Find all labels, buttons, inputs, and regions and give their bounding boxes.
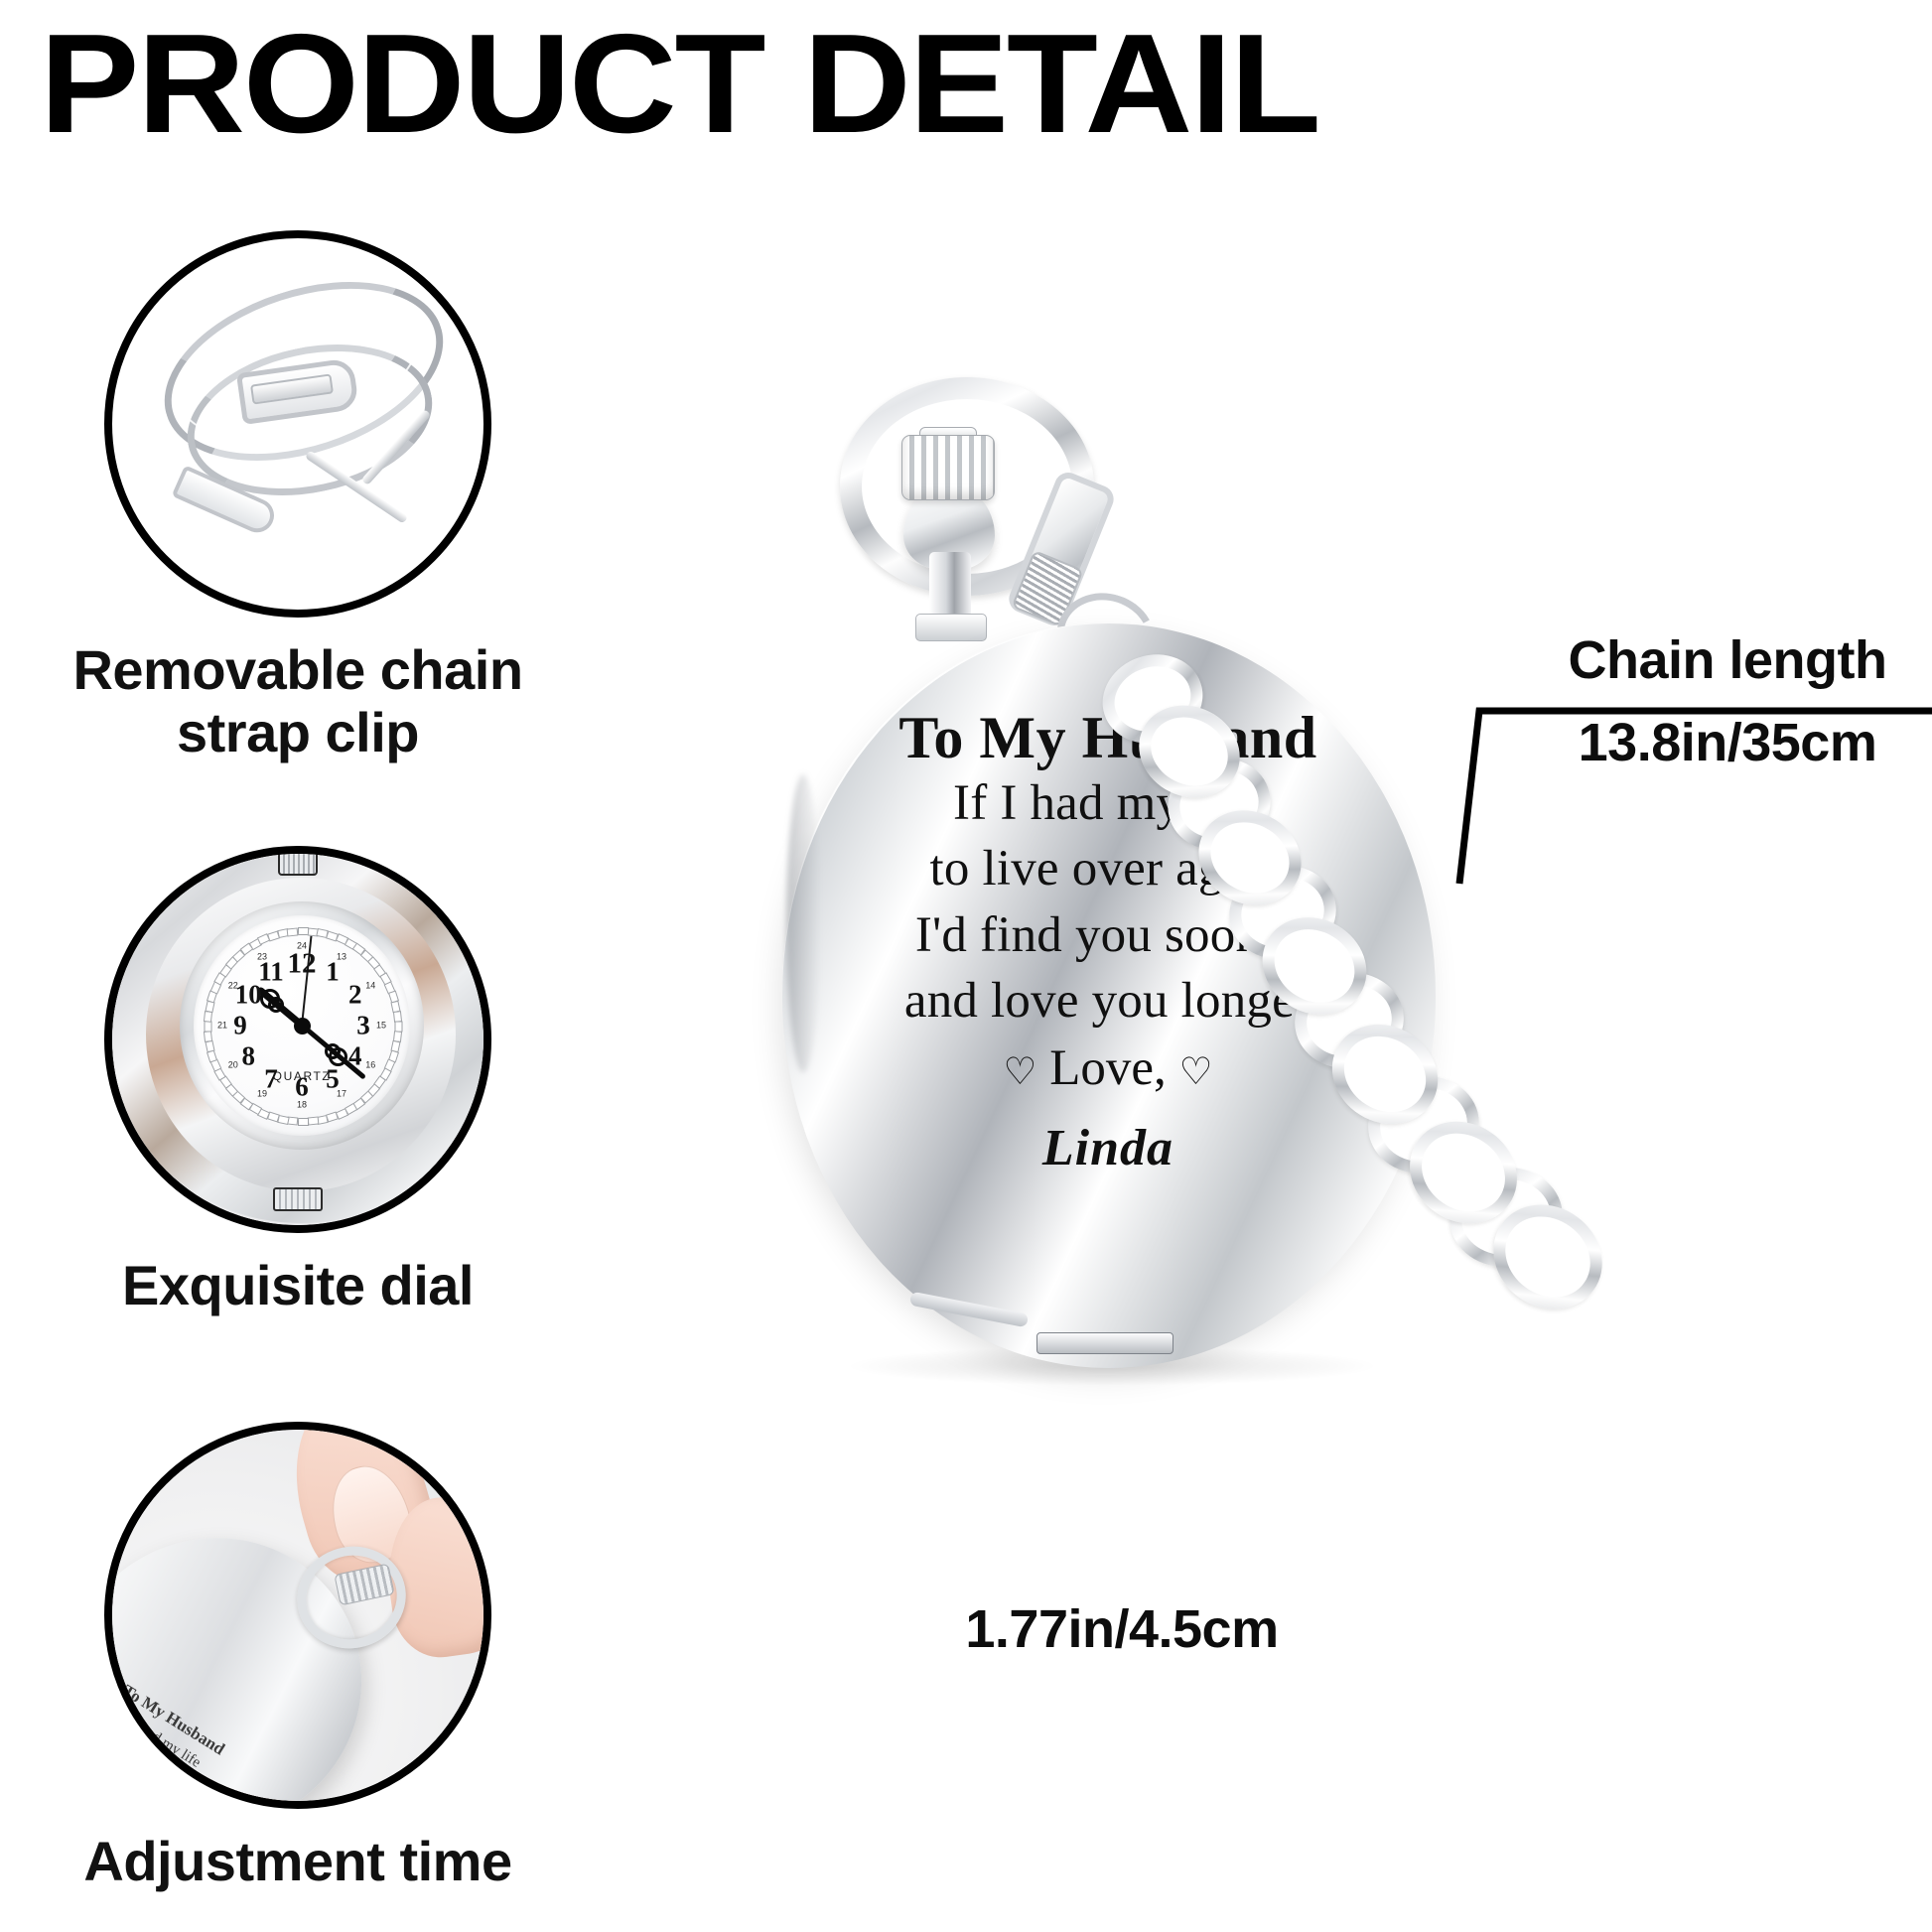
hand-holding-watch-thumbnail[interactable]: To My Husband If I had my life to live o… bbox=[104, 1422, 491, 1809]
feature-label-chain-clip: Removable chain strap clip bbox=[0, 639, 596, 763]
engraving-signature: Linda bbox=[810, 1119, 1406, 1177]
dial-hour-numeral: 1 bbox=[326, 959, 340, 986]
page-title: PRODUCT DETAIL bbox=[40, 14, 1932, 155]
hold-scene: To My Husband If I had my life to live o… bbox=[112, 1430, 483, 1801]
engraving-closing-text: Love, bbox=[1049, 1040, 1167, 1096]
feature-label-adjustment: Adjustment time bbox=[0, 1831, 596, 1893]
hero-pocket-watch: To My Husband If I had my life to live o… bbox=[635, 357, 1932, 1648]
hand-center-cap bbox=[294, 1018, 311, 1035]
feature-label-line: strap clip bbox=[177, 701, 419, 763]
dial-inner-numeral: 16 bbox=[365, 1061, 375, 1070]
pendant-base bbox=[915, 614, 987, 641]
dial-hour-numeral: 12 bbox=[288, 950, 317, 979]
dial-crown bbox=[278, 854, 318, 876]
dial-tick bbox=[287, 927, 299, 936]
dial-inner-numeral: 18 bbox=[297, 1101, 307, 1110]
dial-hour-numeral: 7 bbox=[264, 1065, 278, 1092]
feature-exquisite-dial: QUARTZ 241314151617181920212223121234567… bbox=[0, 846, 596, 1317]
dial-hour-numeral: 3 bbox=[356, 1013, 370, 1039]
hand-holding-watch-photo: To My Husband If I had my life to live o… bbox=[112, 1430, 483, 1801]
engraving-preview: To My Husband If I had my life to live o… bbox=[112, 1654, 269, 1801]
feature-label-line: Adjustment time bbox=[83, 1830, 511, 1892]
diameter-callout: 1.77in/4.5cm bbox=[854, 1598, 1390, 1660]
dial-hour-numeral: 8 bbox=[242, 1043, 256, 1070]
engraving-line-1: If I had my life bbox=[810, 770, 1406, 836]
dial-inner-numeral: 21 bbox=[217, 1022, 227, 1031]
watch-dial-thumbnail[interactable]: QUARTZ 241314151617181920212223121234567… bbox=[104, 846, 491, 1233]
chain-length-value: 13.8in/35cm bbox=[1529, 714, 1926, 772]
dial-hour-numeral: 9 bbox=[233, 1013, 247, 1039]
dial-tick bbox=[298, 1118, 309, 1126]
dial-inner-numeral: 20 bbox=[228, 1061, 238, 1070]
dial-tick bbox=[204, 1022, 211, 1033]
dial-inner-numeral: 15 bbox=[376, 1022, 386, 1031]
dial-scene: QUARTZ 241314151617181920212223121234567… bbox=[112, 854, 483, 1225]
feature-label-line: Removable chain bbox=[72, 638, 522, 701]
hand-ornament bbox=[268, 997, 284, 1013]
chain-length-title: Chain length bbox=[1529, 631, 1926, 690]
heart-left-icon: ♡ bbox=[1003, 1053, 1036, 1091]
hand-ornament bbox=[325, 1043, 341, 1059]
winding-crown bbox=[901, 435, 995, 500]
dial-hour-numeral: 5 bbox=[326, 1065, 340, 1092]
chain-strap-clip-thumbnail[interactable] bbox=[104, 230, 491, 618]
dial-hour-numeral: 4 bbox=[348, 1043, 362, 1070]
case-hinge bbox=[1036, 1332, 1173, 1354]
dial-inner-numeral: 14 bbox=[365, 982, 375, 991]
heart-right-icon: ♡ bbox=[1179, 1053, 1213, 1091]
dial-hour-numeral: 2 bbox=[348, 982, 362, 1009]
watch-dial-photo: QUARTZ 241314151617181920212223121234567… bbox=[112, 854, 483, 1225]
dial-hinge bbox=[273, 1187, 323, 1211]
feature-chain-strap-clip: Removable chain strap clip bbox=[0, 230, 596, 763]
dial-face: QUARTZ 241314151617181920212223121234567… bbox=[194, 915, 410, 1136]
dial-hour-numeral: 11 bbox=[258, 959, 284, 986]
chain-strap-clip-photo bbox=[112, 238, 483, 610]
feature-label-line: Exquisite dial bbox=[122, 1254, 474, 1316]
dial-tick bbox=[204, 1031, 212, 1042]
feature-label-dial: Exquisite dial bbox=[0, 1255, 596, 1317]
dial-hour-numeral: 6 bbox=[295, 1074, 309, 1101]
chain-length-callout: Chain length 13.8in/35cm bbox=[1529, 631, 1926, 773]
feature-adjustment-time: To My Husband If I had my life to live o… bbox=[0, 1422, 596, 1893]
